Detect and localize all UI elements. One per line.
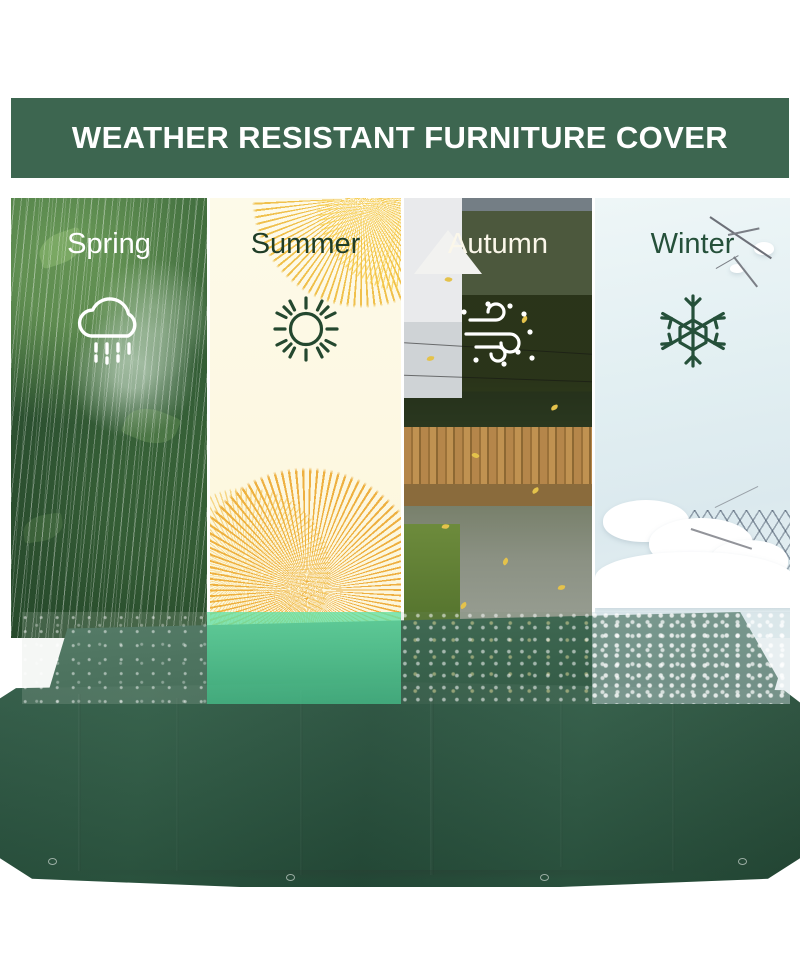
season-label-spring: Spring <box>11 228 207 261</box>
fabric-fold <box>78 694 81 870</box>
season-panel-autumn: Autumn <box>401 198 592 638</box>
grommet-eyelet <box>48 858 57 865</box>
snow-ground <box>595 552 790 608</box>
cover-ground-shadow <box>40 870 760 880</box>
season-label-autumn: Autumn <box>404 228 592 261</box>
sun-icon <box>210 290 401 368</box>
furniture-cover <box>0 612 800 887</box>
page-title: WEATHER RESISTANT FURNITURE COVER <box>72 120 728 156</box>
season-panel-summer: Summer <box>207 198 401 638</box>
product-feature-image: WEATHER RESISTANT FURNITURE COVER Spring <box>0 0 800 977</box>
seasons-strip: Spring Summer <box>11 198 790 638</box>
wooden-fence <box>404 427 592 484</box>
season-label-summer: Summer <box>210 228 401 261</box>
header-banner: WEATHER RESISTANT FURNITURE COVER <box>11 98 789 178</box>
grommet-eyelet <box>540 874 549 881</box>
snowflake-icon <box>595 290 790 372</box>
fabric-fold <box>300 690 303 875</box>
season-label-winter: Winter <box>595 228 790 261</box>
wind-icon <box>404 290 592 370</box>
fabric-fold <box>560 703 563 867</box>
grommet-eyelet <box>738 858 747 865</box>
fabric-fold <box>430 694 434 874</box>
rain-overlay <box>11 198 207 638</box>
cover-side-panel <box>0 682 800 887</box>
fabric-fold <box>672 698 675 870</box>
grommet-eyelet <box>286 874 295 881</box>
cloud-rain-icon <box>11 290 207 366</box>
season-panel-spring: Spring <box>11 198 207 638</box>
season-panel-winter: Winter <box>592 198 790 638</box>
fabric-fold <box>176 698 179 870</box>
